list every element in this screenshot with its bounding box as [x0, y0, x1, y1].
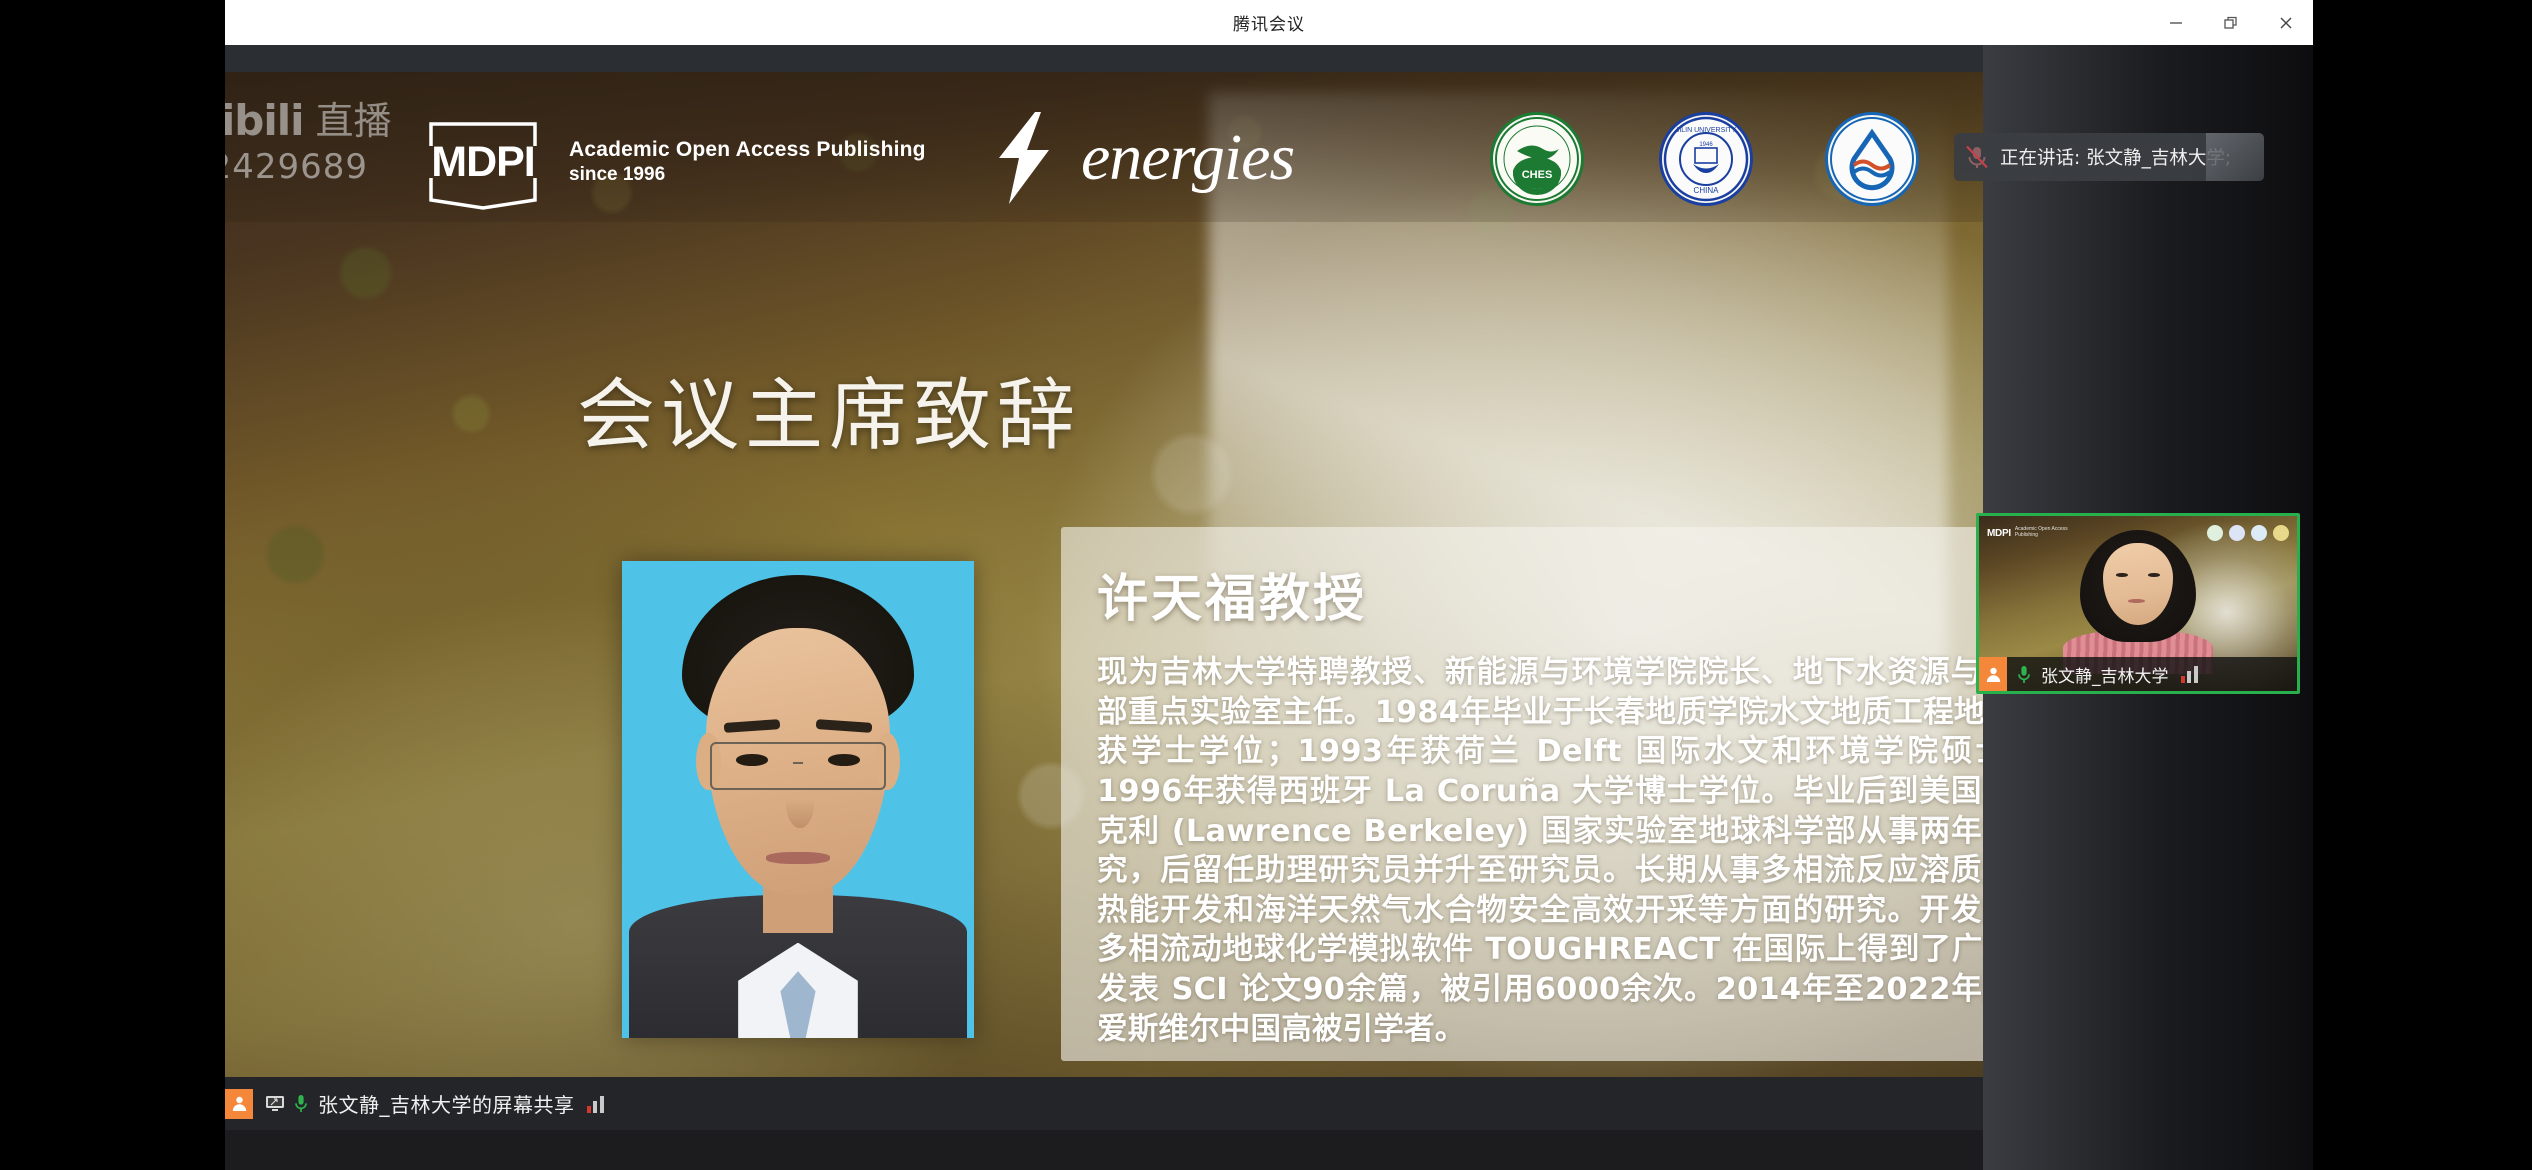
- bilibili-watermark: bilibili 直播 22429689: [225, 90, 392, 187]
- active-speaker-notice: 正在讲话: 张文静_吉林大学;: [1954, 133, 2264, 181]
- presentation-slide: MDPI Academic Open Access Publishing sin…: [225, 72, 1983, 1077]
- network-signal-icon: [587, 1095, 604, 1113]
- bilibili-room-id: 22429689: [225, 147, 392, 187]
- mdpi-tagline: Academic Open Access Publishing since 19…: [569, 137, 926, 187]
- share-status-chip[interactable]: 张文静_吉林大学的屏幕共享: [225, 1087, 604, 1120]
- jilin-university-logo: JILIN UNIVERSITY CHINA 1946: [1659, 112, 1753, 206]
- bilibili-live-label: 直播: [316, 90, 392, 145]
- desktop-right-gutter: [2313, 0, 2532, 1170]
- speaker-portrait-photo: [622, 561, 974, 1038]
- speaker-info-panel: 许天福教授 现为吉林大学特聘教授、新能源与环境学院院长、地下水资源与环境教育部重…: [1061, 527, 1983, 1061]
- screen-root: 腾讯会议: [0, 0, 2532, 1170]
- microphone-muted-icon: [1964, 144, 1990, 170]
- mdpi-logo: MDPI Academic Open Access Publishing sin…: [413, 116, 926, 208]
- desktop-left-gutter: [0, 45, 225, 1170]
- minimize-icon[interactable]: [2148, 0, 2203, 45]
- close-icon[interactable]: [2258, 0, 2313, 45]
- ches-logo: CHES: [1490, 112, 1584, 206]
- participant-figure: [2078, 530, 2199, 674]
- network-signal-icon: [2181, 665, 2198, 683]
- participant-name-bar: 张文静_吉林大学: [1979, 657, 2297, 691]
- svg-text:1946: 1946: [1699, 142, 1713, 148]
- participant-name: 张文静_吉林大学: [2041, 662, 2169, 687]
- participant-video-tile[interactable]: MDPI Academic Open AccessPublishing: [1976, 513, 2300, 694]
- mdpi-hex-icon: MDPI: [413, 116, 553, 208]
- svg-text:JILIN UNIVERSITY: JILIN UNIVERSITY: [1676, 127, 1737, 134]
- water-institute-logo: [1825, 112, 1919, 206]
- participant-avatar-icon: [225, 1089, 253, 1119]
- energies-wordmark: energies: [1081, 125, 1294, 191]
- speaker-thumbnail-preview: [2206, 133, 2264, 181]
- share-status-text: 张文静_吉林大学的屏幕共享: [318, 1089, 575, 1118]
- share-chip-icons: [253, 1094, 318, 1113]
- microphone-icon: [2017, 665, 2031, 684]
- restore-icon[interactable]: [2203, 0, 2258, 45]
- window-title-bar[interactable]: 腾讯会议: [225, 0, 2313, 45]
- bilibili-logo: bilibili: [225, 96, 304, 145]
- participant-avatar-icon: [1979, 657, 2007, 691]
- speaker-biography: 现为吉林大学特聘教授、新能源与环境学院院长、地下水资源与环境教育部重点实验室主任…: [1097, 653, 1983, 1049]
- screen-share-stage[interactable]: MDPI Academic Open Access Publishing sin…: [225, 45, 1983, 1130]
- slide-logo-bar: MDPI Academic Open Access Publishing sin…: [225, 112, 1983, 222]
- screen-share-status-bar: 张文静_吉林大学的屏幕共享: [225, 1077, 1983, 1130]
- mdpi-wordmark: MDPI: [431, 138, 535, 187]
- slide-main-title: 会议主席致辞: [577, 353, 1081, 465]
- lightning-bolt-icon: [995, 112, 1053, 204]
- svg-text:CHINA: CHINA: [1694, 186, 1720, 195]
- energies-journal-logo: energies: [995, 112, 1294, 204]
- window-title: 腾讯会议: [1233, 10, 1305, 35]
- microphone-icon: [294, 1094, 308, 1113]
- mdpi-tagline-line2: since 1996: [569, 163, 926, 187]
- window-controls: [2148, 0, 2313, 45]
- active-speaker-text: 正在讲话: 张文静_吉林大学;: [2000, 144, 2231, 170]
- mdpi-tagline-line1: Academic Open Access Publishing: [569, 137, 926, 163]
- speaker-name: 许天福教授: [1097, 557, 1983, 631]
- participants-panel: 正在讲话: 张文静_吉林大学; MDPI Academic Open Acces…: [1983, 45, 2313, 1170]
- meeting-window: MDPI Academic Open Access Publishing sin…: [225, 45, 2313, 1170]
- svg-text:CHES: CHES: [1522, 169, 1553, 181]
- screen-share-icon: [265, 1095, 285, 1113]
